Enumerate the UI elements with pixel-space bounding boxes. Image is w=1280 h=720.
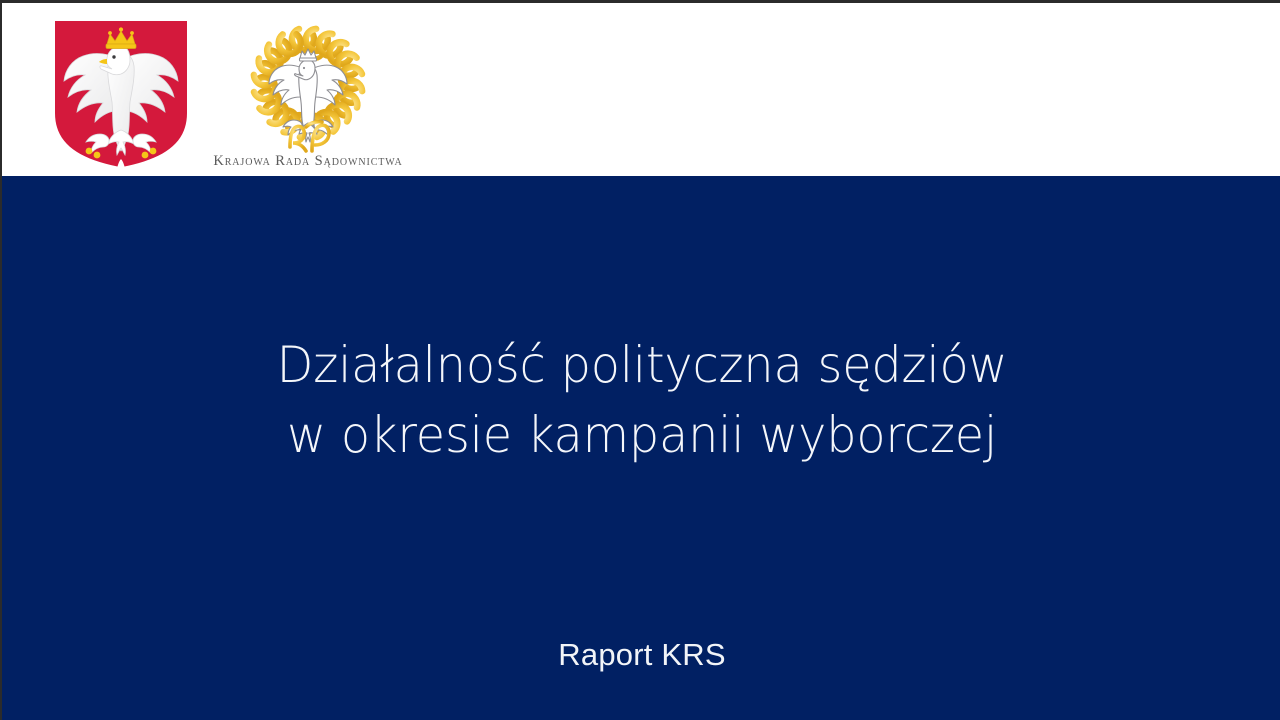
slide-title: Działalność polityczna sędziów w okresie… <box>31 330 1253 470</box>
krs-emblem-icon <box>238 19 378 157</box>
slide-header-band: Krajowa Rada Sądownictwa <box>2 3 1280 176</box>
polish-coat-of-arms-icon <box>52 18 190 170</box>
presentation-slide: Krajowa Rada Sądownictwa Działalność pol… <box>0 0 1280 720</box>
krs-caption-text: Krajowa Rada Sądownictwa <box>198 153 418 170</box>
slide-subtitle: Raport KRS <box>2 637 1280 673</box>
